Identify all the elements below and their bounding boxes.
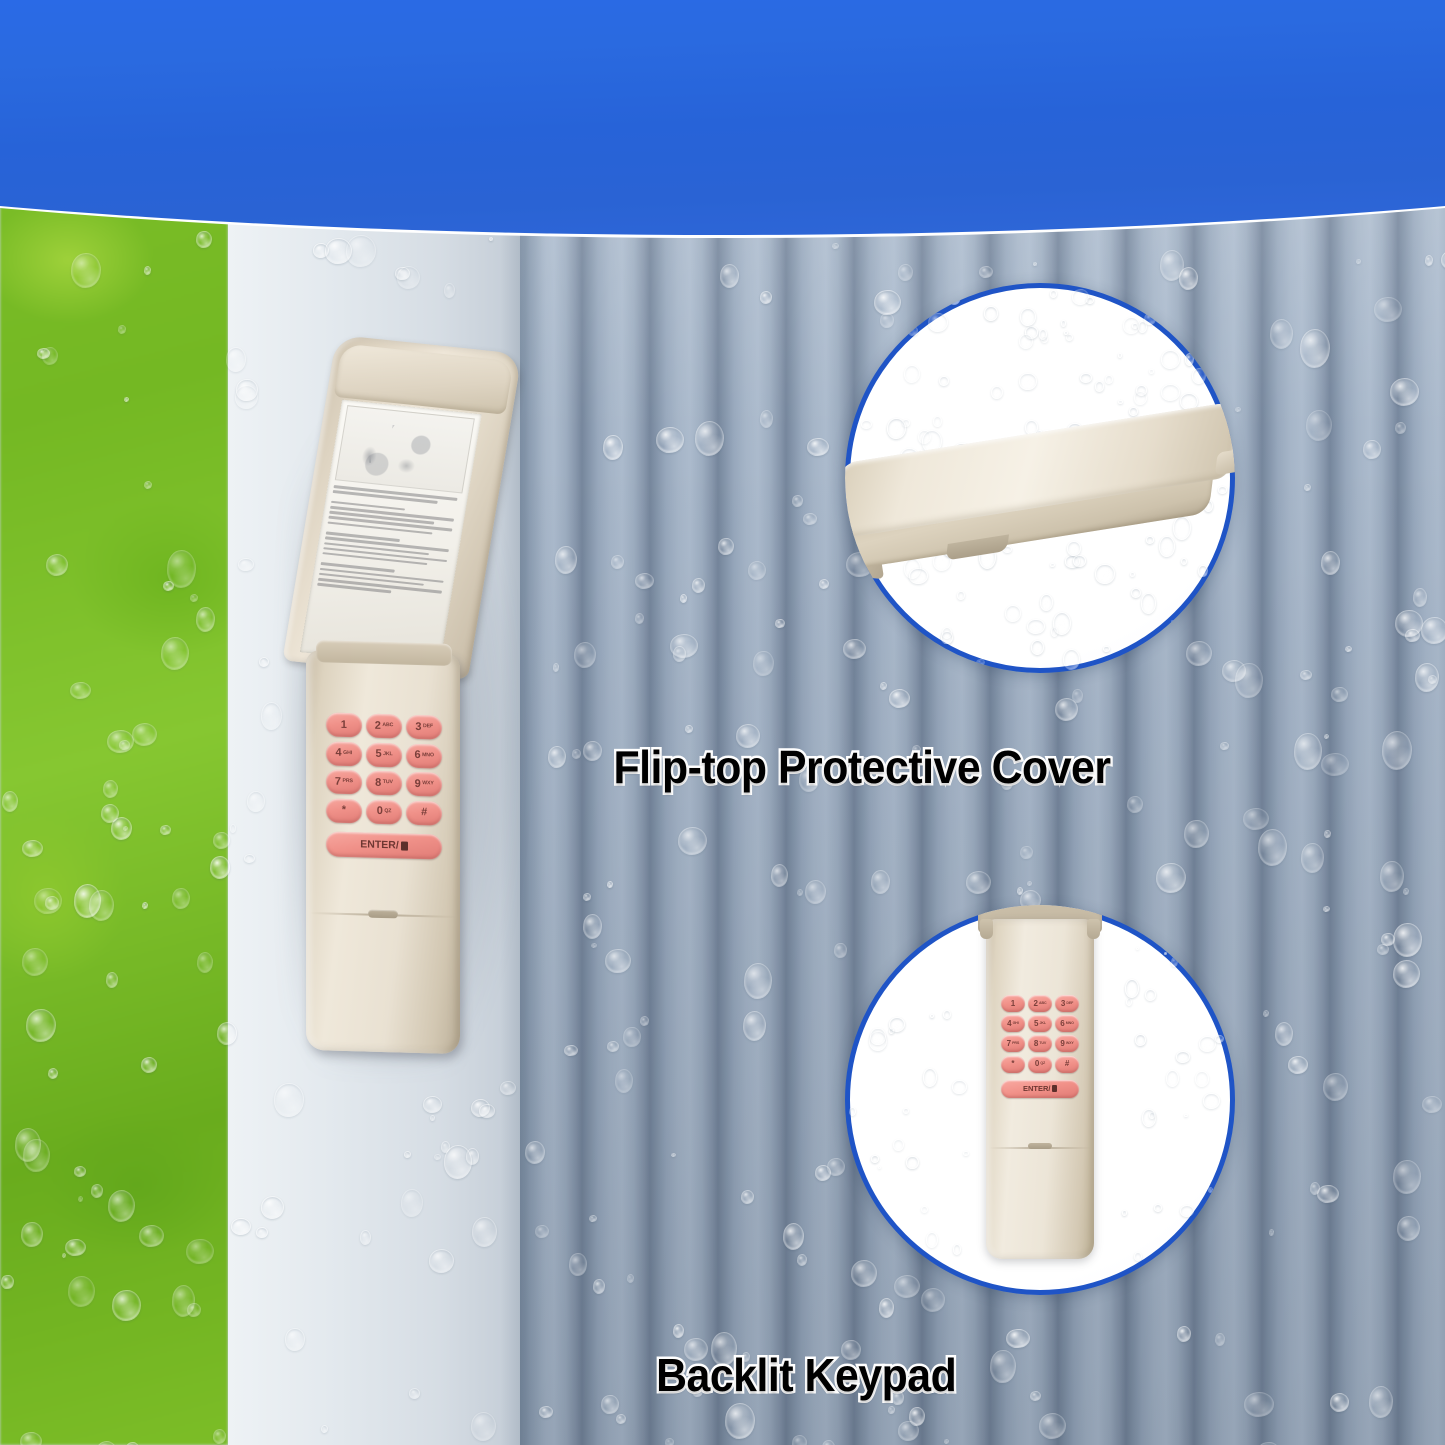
key-digit: * (342, 805, 346, 816)
keypad-body: 12ABC3DEF4GHI5JKL6MNO7PRS8TUV9WXY*0QZ#EN… (306, 650, 460, 1054)
water-droplet (928, 313, 948, 332)
water-droplet (1103, 646, 1109, 652)
callout-content (845, 283, 1235, 673)
key-1[interactable]: 1 (326, 712, 362, 737)
water-droplet (1019, 334, 1033, 349)
key-letters: DEF (423, 725, 433, 730)
key-letters: GHI (1013, 1022, 1019, 1026)
callout-flip-top-cover (845, 283, 1235, 673)
water-droplet (870, 1028, 885, 1046)
key-digit: 7 (1007, 1040, 1011, 1048)
water-droplet (1041, 336, 1048, 343)
water-droplet (871, 1155, 879, 1163)
key-digit: 3 (1061, 1000, 1065, 1008)
water-droplet (1138, 321, 1147, 333)
water-droplet (906, 1156, 918, 1170)
water-droplet (1040, 594, 1054, 611)
water-droplet (889, 1017, 905, 1032)
water-droplet (1123, 317, 1140, 334)
key-4[interactable]: 4GHI (1001, 1015, 1025, 1032)
key-digit: # (421, 807, 427, 818)
water-droplet (930, 1014, 934, 1018)
water-droplet (941, 631, 953, 645)
water-droplet (1161, 350, 1180, 369)
water-droplet (921, 1206, 928, 1213)
key-0[interactable]: 0QZ (366, 799, 402, 824)
water-droplet (1130, 572, 1135, 577)
key-letters: WXY (1066, 1042, 1074, 1046)
key-letters: JKL (1039, 1022, 1046, 1026)
water-droplet (1136, 385, 1147, 396)
key-digit: 3 (415, 721, 421, 732)
water-droplet (1184, 1114, 1187, 1117)
water-droplet (952, 1080, 967, 1095)
key-9[interactable]: 9WXY (1055, 1035, 1079, 1052)
water-droplet (1142, 1109, 1156, 1127)
key-digit: 2 (375, 720, 381, 731)
water-droplet (1203, 1093, 1220, 1109)
keypad-row: *0QZ# (326, 798, 442, 825)
water-droplet (1027, 619, 1045, 634)
key-letters: QZ (384, 809, 391, 814)
water-droplet (1061, 320, 1066, 327)
water-droplet (1025, 326, 1038, 339)
water-droplet (963, 1151, 969, 1156)
key-3[interactable]: 3DEF (406, 715, 442, 740)
water-droplet (1020, 308, 1036, 327)
water-droplet (1176, 1051, 1190, 1062)
water-droplet (1195, 1071, 1209, 1087)
water-droplet (1005, 605, 1021, 622)
key-digit: 0 (1035, 1060, 1039, 1068)
caption-flip-top-cover: Flip-top Protective Cover (51, 740, 1395, 794)
water-droplet (1161, 384, 1180, 401)
water-droplet (1122, 1210, 1127, 1216)
water-droplet (1141, 593, 1157, 614)
water-droplet (1118, 400, 1123, 405)
key-8[interactable]: 8TUV (1028, 1035, 1052, 1052)
water-droplet (1118, 353, 1122, 358)
water-droplet (903, 1108, 909, 1114)
key-digit: 1 (341, 719, 347, 730)
key-digit: 8 (1034, 1040, 1038, 1048)
water-droplet (1019, 373, 1037, 391)
water-droplet (991, 386, 1003, 399)
key-digit: 0 (377, 806, 383, 817)
water-droplet (1166, 1070, 1179, 1087)
water-droplet (1154, 1204, 1162, 1212)
water-droplet (918, 430, 931, 444)
callout-content: 12ABC3DEF4GHI5JKL6MNO7PRS8TUV9WXY*0QZ#EN… (845, 905, 1235, 1295)
water-droplet (953, 1244, 961, 1255)
enter-button[interactable]: ENTER/ (326, 831, 442, 859)
enter-label: ENTER/ (360, 838, 399, 851)
key-hash[interactable]: # (406, 800, 442, 825)
water-droplet (1072, 289, 1089, 305)
water-droplet (1053, 612, 1072, 635)
water-droplet (1215, 1035, 1224, 1043)
key-letters: MNO (1066, 1022, 1074, 1026)
water-droplet (1031, 640, 1044, 655)
key-letters: DEF (1066, 1002, 1073, 1006)
closed-keypad-cover-product (845, 400, 1235, 617)
key-7[interactable]: 7PRS (1001, 1035, 1025, 1052)
key-5[interactable]: 5JKL (1028, 1015, 1052, 1032)
water-droplet (1199, 1036, 1217, 1052)
water-droplet (1051, 627, 1059, 637)
header-banner (0, 0, 1445, 235)
key-letters: TUV (1039, 1042, 1046, 1046)
water-droplet (849, 1107, 856, 1116)
water-droplet (1164, 952, 1167, 955)
water-droplet (902, 419, 910, 426)
keypad-body: 12ABC3DEF4GHI5JKL6MNO7PRS8TUV9WXY*0QZ#EN… (986, 919, 1094, 1259)
keypad-row: 12ABC3DEF (326, 712, 442, 739)
keypad-row: 12ABC3DEF (1001, 995, 1079, 1012)
water-droplet (1180, 1205, 1194, 1217)
water-droplet (887, 418, 906, 439)
key-0[interactable]: 0QZ (1028, 1056, 1052, 1073)
key-1[interactable]: 1 (1001, 995, 1025, 1012)
water-droplet (923, 1068, 937, 1087)
water-droplet (861, 420, 871, 429)
key-digit: 9 (1060, 1040, 1064, 1048)
water-droplet (1145, 989, 1156, 1001)
key-digit: # (1065, 1060, 1069, 1068)
callout-backlit-keypad: 12ABC3DEF4GHI5JKL6MNO7PRS8TUV9WXY*0QZ#EN… (845, 905, 1235, 1295)
key-3[interactable]: 3DEF (1055, 995, 1079, 1012)
key-star[interactable]: * (1001, 1056, 1025, 1073)
water-droplet (1132, 323, 1139, 329)
water-droplet (1136, 947, 1139, 950)
keypad-row: *0QZ# (1001, 1056, 1079, 1073)
water-droplet (1198, 565, 1208, 577)
battery-cover-latch[interactable] (1028, 1143, 1052, 1149)
water-droplet (1129, 407, 1138, 417)
water-droplet (1134, 1252, 1142, 1261)
caption-backlit-keypad: Backlit Keypad (51, 1348, 1395, 1402)
water-droplet (869, 1031, 887, 1051)
water-droplet (1095, 381, 1105, 392)
key-hash[interactable]: # (1055, 1056, 1079, 1073)
water-droplet (1134, 391, 1147, 405)
lock-glyph-icon (1052, 1085, 1057, 1092)
water-droplet (878, 1166, 881, 1169)
key-digit: 6 (1060, 1020, 1064, 1028)
cover-hinge-right (1087, 919, 1100, 939)
water-droplet (1126, 998, 1132, 1006)
key-2[interactable]: 2ABC (1028, 995, 1052, 1012)
cover-hinge-left (980, 919, 993, 939)
key-6[interactable]: 6MNO (1055, 1015, 1079, 1032)
water-droplet (904, 365, 920, 383)
water-droplet (926, 1232, 938, 1248)
water-droplet (889, 1028, 894, 1033)
key-digit: * (1011, 1060, 1014, 1068)
enter-label: ENTER/ (1023, 1084, 1051, 1093)
cover-hinge (316, 640, 452, 666)
water-droplet (1105, 375, 1113, 385)
water-droplet (1080, 373, 1092, 383)
key-digit: 2 (1034, 1000, 1038, 1008)
key-letters: QZ (1040, 1062, 1045, 1066)
water-droplet (943, 1010, 951, 1019)
key-letters: ABC (382, 723, 393, 729)
water-droplet (893, 1139, 904, 1151)
water-droplet (1064, 331, 1068, 335)
water-droplet (1125, 979, 1139, 997)
programming-diagram-illustration (335, 405, 475, 493)
water-droplet (984, 306, 998, 321)
key-letters: PRS (1012, 1042, 1019, 1046)
water-droplet (942, 627, 953, 639)
water-droplet (1050, 290, 1057, 297)
enter-button[interactable]: ENTER/ (1001, 1080, 1079, 1098)
lock-glyph-icon (401, 841, 408, 850)
keypad-row: 7PRS8TUV9WXY (1001, 1035, 1079, 1052)
battery-cover-latch[interactable] (368, 910, 398, 919)
keypad-row: 4GHI5JKL6MNO (1001, 1015, 1079, 1032)
water-droplet (1131, 588, 1141, 598)
water-droplet (1135, 1034, 1146, 1047)
water-droplet (1086, 297, 1094, 304)
water-droplet (939, 376, 949, 386)
water-droplet (1149, 369, 1153, 374)
keypad-grid[interactable]: 12ABC3DEF4GHI5JKL6MNO7PRS8TUV9WXY*0QZ#EN… (1001, 995, 1079, 1098)
water-droplet (1066, 334, 1074, 341)
key-digit: 1 (1011, 1000, 1015, 1008)
key-letters: ABC (1039, 1002, 1047, 1006)
water-droplet (1063, 649, 1080, 670)
water-droplet (1149, 1112, 1156, 1119)
water-droplet (933, 416, 942, 427)
wall-mounted-keypad-device: 12ABC3DEF4GHI5JKL6MNO7PRS8TUV9WXY*0QZ#EN… (282, 340, 544, 1070)
product-infographic: Suitable for Various Environments (0, 0, 1445, 1445)
key-2[interactable]: 2ABC (366, 714, 402, 739)
water-droplet (1039, 329, 1047, 340)
key-digit: 5 (1034, 1020, 1038, 1028)
front-view-keypad-product: 12ABC3DEF4GHI5JKL6MNO7PRS8TUV9WXY*0QZ#EN… (978, 905, 1102, 1283)
key-digit: 4 (1007, 1020, 1011, 1028)
key-star[interactable]: * (326, 798, 362, 823)
